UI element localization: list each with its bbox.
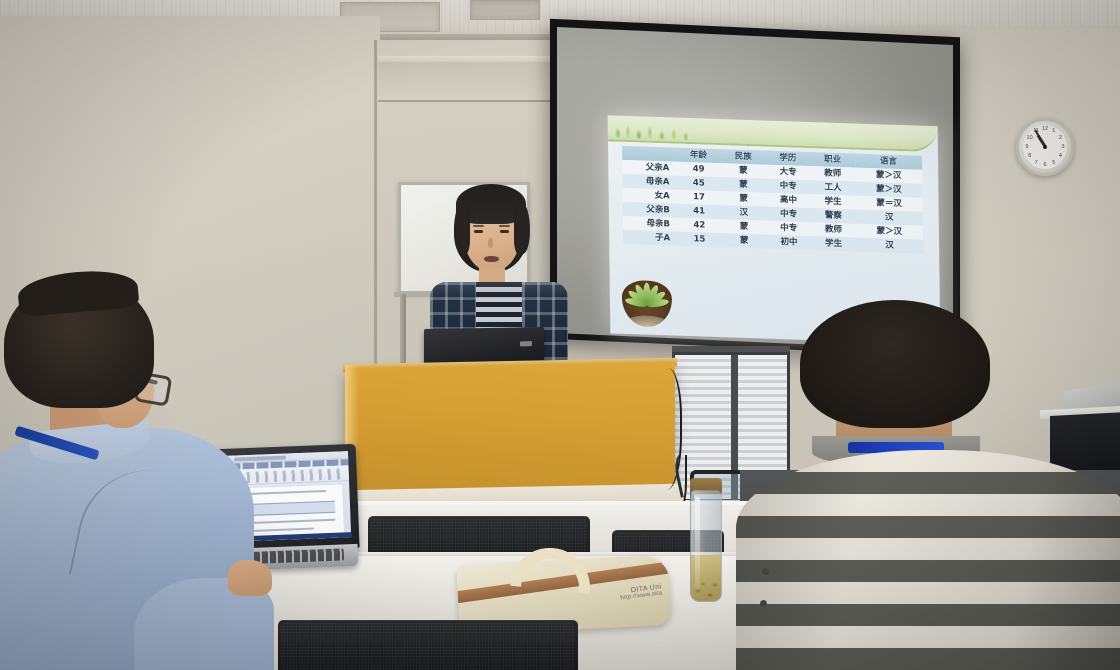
- slide-table-body: 父亲A49蒙大专教师蒙＞汉母亲A45蒙中专工人蒙＞汉女A17蒙高中学生蒙＝汉父亲…: [622, 160, 923, 254]
- slide-cell-age: 17: [677, 190, 722, 205]
- clock-numeral: 12: [1042, 126, 1048, 132]
- presenter-eye: [500, 230, 509, 233]
- slide-cell-age: 42: [677, 218, 722, 233]
- presenter-nose: [488, 238, 493, 248]
- attendee-right-button: [760, 600, 767, 607]
- slide-cell-edu: 中专: [766, 179, 811, 194]
- slide-cell-age: 49: [676, 162, 721, 177]
- tote-bag-print: OITA Uni http://www.oita: [619, 583, 662, 601]
- slide-data-table: 年龄 民族 学历 职业 语言 父亲A49蒙大专教师蒙＞汉母亲A45蒙中专工人蒙＞…: [622, 146, 923, 254]
- soil-decoration: [622, 315, 672, 328]
- clock-numeral: 7: [1035, 160, 1038, 166]
- col-header-edu: 学历: [765, 151, 810, 166]
- presenter-eyebrow: [499, 225, 510, 227]
- slide-cell-ethnic: 蒙: [722, 233, 767, 248]
- attendee-right: [700, 300, 1120, 670]
- grass-decoration-icon: [612, 117, 698, 140]
- presenter-mouth: [484, 256, 499, 262]
- slide-cell-ethnic: 蒙: [722, 219, 767, 234]
- wall-clock: 12 1 2 3 4 5 6 7 8 9 10 11: [1016, 118, 1074, 176]
- ceiling-vent-small: [470, 0, 540, 20]
- slide-cell-lang: 汉: [856, 238, 923, 254]
- slide-cell-age: 45: [676, 176, 721, 191]
- slide-cell-job: 学生: [811, 194, 856, 209]
- podium: [345, 362, 675, 498]
- slide-cell-age: 41: [677, 204, 722, 219]
- laptop-lid-badge: [520, 341, 532, 346]
- attendee-left: [0, 278, 284, 670]
- slide-cell-job: 学生: [811, 236, 856, 251]
- clock-numeral: 5: [1052, 160, 1055, 166]
- slide-cell-job: 警察: [811, 208, 856, 223]
- clock-numeral: 9: [1025, 144, 1028, 150]
- attendee-right-hair: [800, 300, 990, 428]
- classroom-scene: 12 1 2 3 4 5 6 7 8 9 10 11: [0, 0, 1120, 670]
- slide-cell-job: 教师: [810, 166, 855, 181]
- slide-cell-job: 工人: [811, 180, 856, 195]
- presenter-hair-right: [514, 202, 530, 254]
- col-header-job: 职业: [810, 152, 855, 167]
- attendee-right-shirt-shading: [736, 450, 1120, 670]
- clock-face: 12 1 2 3 4 5 6 7 8 9 10 11: [1023, 125, 1067, 169]
- col-header-ethnic: 民族: [721, 149, 766, 164]
- slide-cell-ethnic: 蒙: [721, 191, 766, 206]
- attendee-right-button: [762, 568, 769, 575]
- slide-cell-edu: 初中: [766, 235, 811, 250]
- slide-cell-edu: 中专: [766, 207, 811, 222]
- clock-numeral: 2: [1059, 135, 1062, 141]
- slide-cell-ethnic: 汉: [721, 205, 766, 220]
- slide-cell-edu: 中专: [766, 221, 811, 236]
- slide-cell-edu: 大专: [766, 165, 811, 180]
- clock-numeral: 4: [1059, 153, 1062, 159]
- plant-emblem-logo-icon: [622, 280, 673, 328]
- col-header-age: 年龄: [676, 148, 721, 163]
- presenter-eyebrow: [473, 225, 484, 227]
- slide-cell-ethnic: 蒙: [721, 177, 766, 192]
- slide-cell-rowhdr: 子A: [623, 230, 677, 246]
- clock-numeral: 1: [1052, 128, 1055, 134]
- clock-numeral: 6: [1043, 162, 1046, 168]
- slide-cell-job: 教师: [811, 222, 856, 237]
- whiteboard-stand: [400, 294, 406, 364]
- presenter-shoulders: [430, 282, 568, 298]
- clock-numeral: 3: [1062, 144, 1065, 150]
- slide-cell-ethnic: 蒙: [721, 163, 766, 178]
- presenter-eye: [474, 230, 483, 233]
- clock-numeral: 10: [1027, 135, 1033, 141]
- slide-cell-edu: 高中: [766, 193, 811, 208]
- slide-cell-age: 15: [677, 232, 722, 247]
- clock-center-pin: [1043, 145, 1047, 149]
- presenter-hair-left: [454, 202, 470, 254]
- chair-foreground: [278, 620, 578, 670]
- clock-numeral: 8: [1028, 153, 1031, 159]
